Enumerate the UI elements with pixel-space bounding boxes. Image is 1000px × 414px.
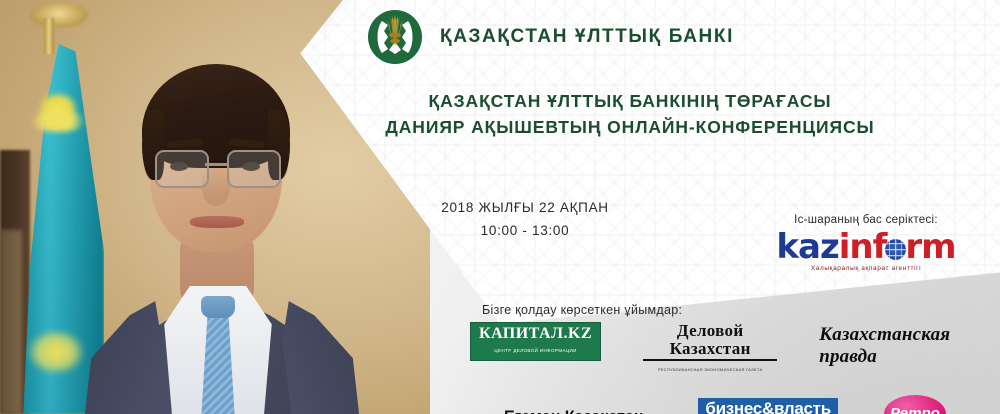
main-partner-block: Іс-шараның бас серіктесі: kazinfrm Халық… [750, 214, 982, 272]
logo-kapital-kz-subtitle: ЦЕНТР ДЕЛОВОЙ ИНФОРМАЦИИ [479, 342, 592, 359]
eyeglass-bridge [205, 163, 227, 166]
logo-kapital-kz[interactable]: КАПИТАЛ.KZ ЦЕНТР ДЕЛОВОЙ ИНФОРМАЦИИ [470, 322, 601, 361]
national-bank-emblem-icon [366, 8, 424, 66]
event-schedule: 2018 ЖЫЛҒЫ 22 АҚПАН 10:00 - 13:00 [380, 200, 670, 238]
main-partner-label: Іс-шараның бас серіктесі: [750, 214, 982, 226]
logo-kazakhstanskaya-pravda-text: Казахстанская правда [819, 324, 950, 367]
kazinform-logo[interactable]: kazinfrm [750, 230, 982, 264]
logo-delovoy-kazakhstan-subtitle: РЕСПУБЛИКАНСКАЯ ЭКОНОМИЧЕСКАЯ ГАЗЕТА [643, 361, 777, 379]
event-time: 10:00 - 13:00 [380, 223, 670, 238]
retro-fm-oval: Ретро FM [884, 395, 946, 414]
kazinform-logo-kaz: kaz [776, 227, 838, 267]
necktie-knot [201, 296, 235, 318]
brand-name: ҚАЗАҚСТАН ҰЛТТЫҚ БАНКІ [440, 26, 734, 48]
logo-kapital-kz-text: КАПИТАЛ.KZ [479, 325, 592, 342]
logo-biznes-i-vlast[interactable]: бизнес&власть Идеи. Знания. Возможности [698, 398, 837, 414]
flag-pole-finial-inner [30, 2, 88, 28]
nose [202, 170, 230, 206]
supporter-logo-row-2: Егемен Қазақстан бизнес&власть Идеи. Зна… [504, 395, 990, 414]
logo-egemen-qazaqstan[interactable]: Егемен Қазақстан [504, 407, 644, 414]
globe-icon [885, 239, 906, 260]
eyeglass-lens-left [155, 150, 209, 188]
event-date: 2018 ЖЫЛҒЫ 22 АҚПАН [380, 200, 670, 215]
logo-retro-fm[interactable]: Ретро FM КАЗАХСТАН [884, 395, 946, 414]
title-line-2: ДАНИЯР АҚЫШЕВТЫҢ ОНЛАЙН-КОНФЕРЕНЦИЯСЫ [300, 114, 960, 140]
kazinform-logo-inf: inf [839, 227, 887, 267]
eyeglass-lens-right [227, 150, 281, 188]
conference-banner: ҚАЗАҚСТАН ҰЛТТЫҚ БАНКІ ҚАЗАҚСТАН ҰЛТТЫҚ … [0, 0, 1000, 414]
logo-biznes-i-vlast-text: бизнес&власть [705, 399, 830, 414]
logo-delovoy-kazakhstan[interactable]: Деловой Казахстан РЕСПУБЛИКАНСКАЯ ЭКОНОМ… [643, 322, 777, 379]
logo-kazakhstanskaya-pravda[interactable]: Казахстанская правда [819, 324, 990, 368]
logo-delovoy-kazakhstan-text: Деловой Казахстан [670, 321, 751, 358]
brand-row: ҚАЗАҚСТАН ҰЛТТЫҚ БАНКІ [366, 8, 734, 66]
logo-retro-fm-text: Ретро [890, 405, 940, 414]
conference-title: ҚАЗАҚСТАН ҰЛТТЫҚ БАНКІНІҢ ТӨРАҒАСЫ ДАНИЯ… [300, 88, 960, 140]
wooden-panel-highlight [0, 230, 22, 414]
flag-pole [44, 18, 54, 54]
mouth [190, 216, 244, 228]
supporters-label: Бізге қолдау көрсеткен ұйымдар: [482, 303, 682, 317]
kazinform-logo-rm: rm [905, 227, 955, 267]
supporter-logo-row-1: КАПИТАЛ.KZ ЦЕНТР ДЕЛОВОЙ ИНФОРМАЦИИ Дело… [470, 322, 990, 379]
title-line-1: ҚАЗАҚСТАН ҰЛТТЫҚ БАНКІНІҢ ТӨРАҒАСЫ [300, 88, 960, 114]
logo-egemen-qazaqstan-text: Егемен Қазақстан [504, 407, 644, 414]
supporter-logos: КАПИТАЛ.KZ ЦЕНТР ДЕЛОВОЙ ИНФОРМАЦИИ Дело… [470, 322, 990, 414]
